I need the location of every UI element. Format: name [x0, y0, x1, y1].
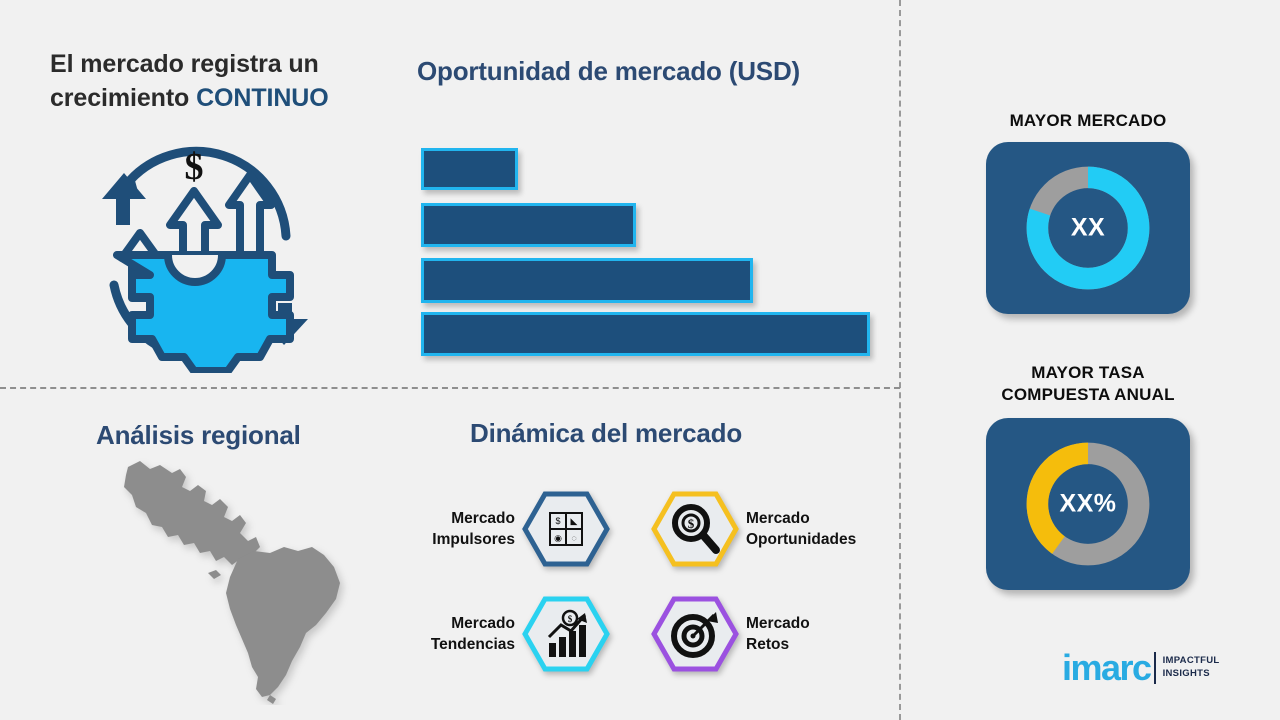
latin-america-map: [120, 455, 380, 705]
stat-title: MAYOR MERCADO: [938, 110, 1238, 132]
dynamics-item-label: Mercado Oportunidades: [746, 508, 886, 551]
stat-title: MAYOR TASA COMPUESTA ANUAL: [938, 362, 1238, 406]
regional-title: Análisis regional: [96, 420, 426, 451]
dynamics-item-drivers[interactable]: Mercado Impulsores $◣ ◉◌: [400, 490, 611, 568]
growth-bar-chart-icon: $: [521, 595, 611, 673]
donut-card: XX: [986, 142, 1190, 314]
bar-row: [421, 312, 870, 356]
opportunity-title: Oportunidad de mercado (USD): [417, 56, 887, 87]
svg-text:◌: ◌: [571, 533, 576, 543]
logo-tagline: IMPACTFUL INSIGHTS: [1163, 655, 1220, 681]
stat-largest-market: MAYOR MERCADO XX: [938, 110, 1238, 314]
stat-highest-cagr: MAYOR TASA COMPUESTA ANUAL XX%: [938, 362, 1238, 590]
opportunity-bar-chart: [418, 145, 888, 350]
svg-text:◉: ◉: [554, 533, 562, 543]
vertical-divider: [899, 0, 901, 720]
gear-growth-arrows-icon: $: [72, 133, 317, 373]
dynamics-item-opportunities[interactable]: $ Mercado Oportunidades: [650, 490, 886, 568]
svg-text:$: $: [555, 516, 560, 526]
bar-row: [421, 258, 753, 303]
puzzle-pieces-icon: $◣ ◉◌: [521, 490, 611, 568]
imarc-logo: imarc IMPACTFUL INSIGHTS: [1062, 650, 1219, 686]
magnifier-dollar-icon: $: [650, 490, 740, 568]
dynamics-item-challenges[interactable]: Mercado Retos: [650, 595, 886, 673]
dynamics-item-label: Mercado Tendencias: [400, 613, 515, 656]
dynamics-item-trends[interactable]: Mercado Tendencias $: [400, 595, 611, 673]
svg-text:$: $: [688, 516, 695, 531]
growth-heading: El mercado registra un crecimiento CONTI…: [50, 48, 400, 115]
dynamics-item-label: Mercado Retos: [746, 613, 886, 656]
stat-value: XX: [986, 213, 1190, 242]
donut-card: XX%: [986, 418, 1190, 590]
logo-divider: [1154, 652, 1156, 684]
infographic-canvas: El mercado registra un crecimiento CONTI…: [0, 0, 1280, 720]
growth-heading-line2: crecimiento: [50, 84, 196, 112]
logo-wordmark: imarc: [1062, 650, 1151, 686]
bar-row: [421, 148, 518, 190]
svg-text:◣: ◣: [571, 516, 578, 526]
horizontal-divider: [0, 387, 900, 389]
stat-value: XX%: [986, 489, 1190, 518]
svg-text:$: $: [568, 614, 573, 624]
dynamics-title: Dinámica del mercado: [470, 418, 890, 449]
target-arrow-icon: [650, 595, 740, 673]
growth-heading-line1: El mercado registra un: [50, 50, 319, 78]
svg-text:$: $: [185, 146, 204, 188]
growth-heading-accent: CONTINUO: [196, 84, 329, 112]
dynamics-item-label: Mercado Impulsores: [400, 508, 515, 551]
bar-row: [421, 203, 636, 247]
